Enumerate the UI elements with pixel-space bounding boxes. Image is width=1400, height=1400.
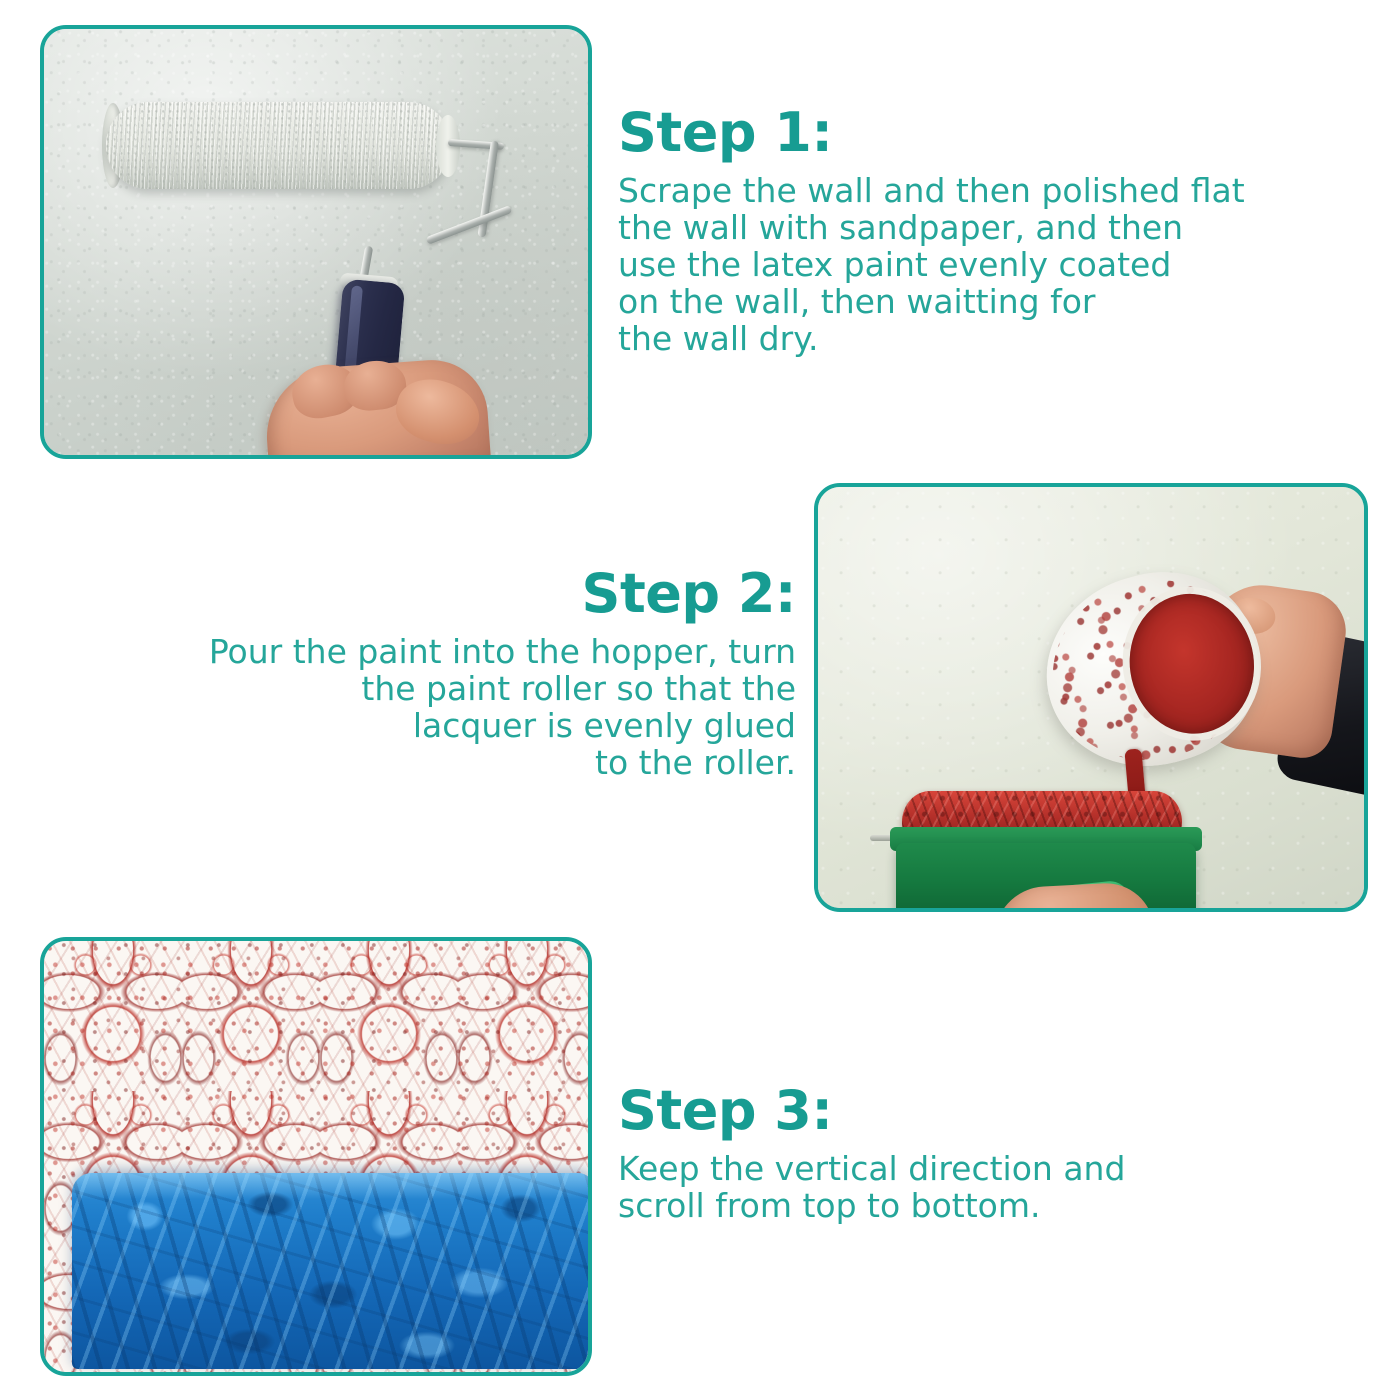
blue-embossed-roller-on-damask-wall-photo: [40, 937, 592, 1376]
photo-1-inner: [44, 29, 588, 455]
step-3-body-line-2: scroll from top to bottom.: [618, 1187, 1318, 1224]
step-1-body-line-1: Scrape the wall and then polished flat: [618, 172, 1358, 209]
photo-2-inner: [818, 487, 1364, 908]
pouring-paint-into-hopper-photo: [814, 483, 1368, 912]
step-3-text-block: Step 3: Keep the vertical direction and …: [618, 1082, 1318, 1224]
step-1-body: Scrape the wall and then polished flat t…: [618, 172, 1358, 357]
step-3-heading: Step 3:: [618, 1082, 1318, 1140]
roller-nap-sleeve: [106, 102, 451, 189]
step-2-body-line-3: lacquer is evenly glued: [86, 707, 796, 744]
roller-swirl-texture: [72, 1173, 588, 1369]
step-2-body: Pour the paint into the hopper, turn the…: [86, 633, 796, 781]
step-1-text-block: Step 1: Scrape the wall and then polishe…: [618, 104, 1358, 357]
step-2-body-line-4: to the roller.: [86, 744, 796, 781]
step-1-body-line-3: use the latex paint evenly coated: [618, 246, 1358, 283]
step-2-body-line-2: the paint roller so that the: [86, 670, 796, 707]
step-2-body-line-1: Pour the paint into the hopper, turn: [86, 633, 796, 670]
blue-embossed-pattern-roller: [72, 1173, 588, 1369]
step-3-body: Keep the vertical direction and scroll f…: [618, 1150, 1318, 1224]
step-2-text-block: Step 2: Pour the paint into the hopper, …: [86, 565, 796, 781]
paint-roller-on-wall-photo: [40, 25, 592, 459]
step-2-heading: Step 2:: [86, 565, 796, 623]
step-1-body-line-2: the wall with sandpaper, and then: [618, 209, 1358, 246]
step-3-body-line-1: Keep the vertical direction and: [618, 1150, 1318, 1187]
step-1-body-line-4: on the wall, then waitting for: [618, 283, 1358, 320]
step-1-heading: Step 1:: [618, 104, 1358, 162]
roller-top-highlight: [72, 1173, 588, 1199]
photo-3-inner: [44, 941, 588, 1372]
step-1-body-line-5: the wall dry.: [618, 320, 1358, 357]
